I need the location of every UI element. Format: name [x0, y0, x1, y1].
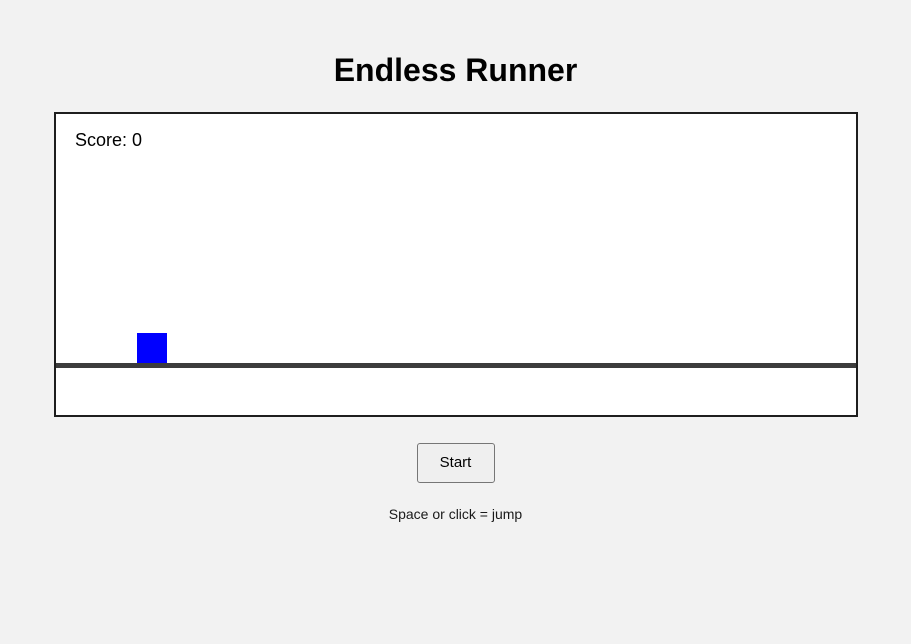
page-title: Endless Runner	[0, 49, 911, 91]
game-canvas[interactable]: Score: 0	[54, 112, 858, 417]
game-page: Endless Runner Score: 0 Start Space or c…	[0, 0, 911, 644]
score-display: Score: 0	[75, 129, 142, 151]
ground-line	[56, 363, 856, 368]
controls-hint: Space or click = jump	[0, 504, 911, 524]
player-square	[137, 333, 167, 363]
start-button[interactable]: Start	[417, 443, 495, 483]
controls-row: Start	[0, 443, 911, 483]
